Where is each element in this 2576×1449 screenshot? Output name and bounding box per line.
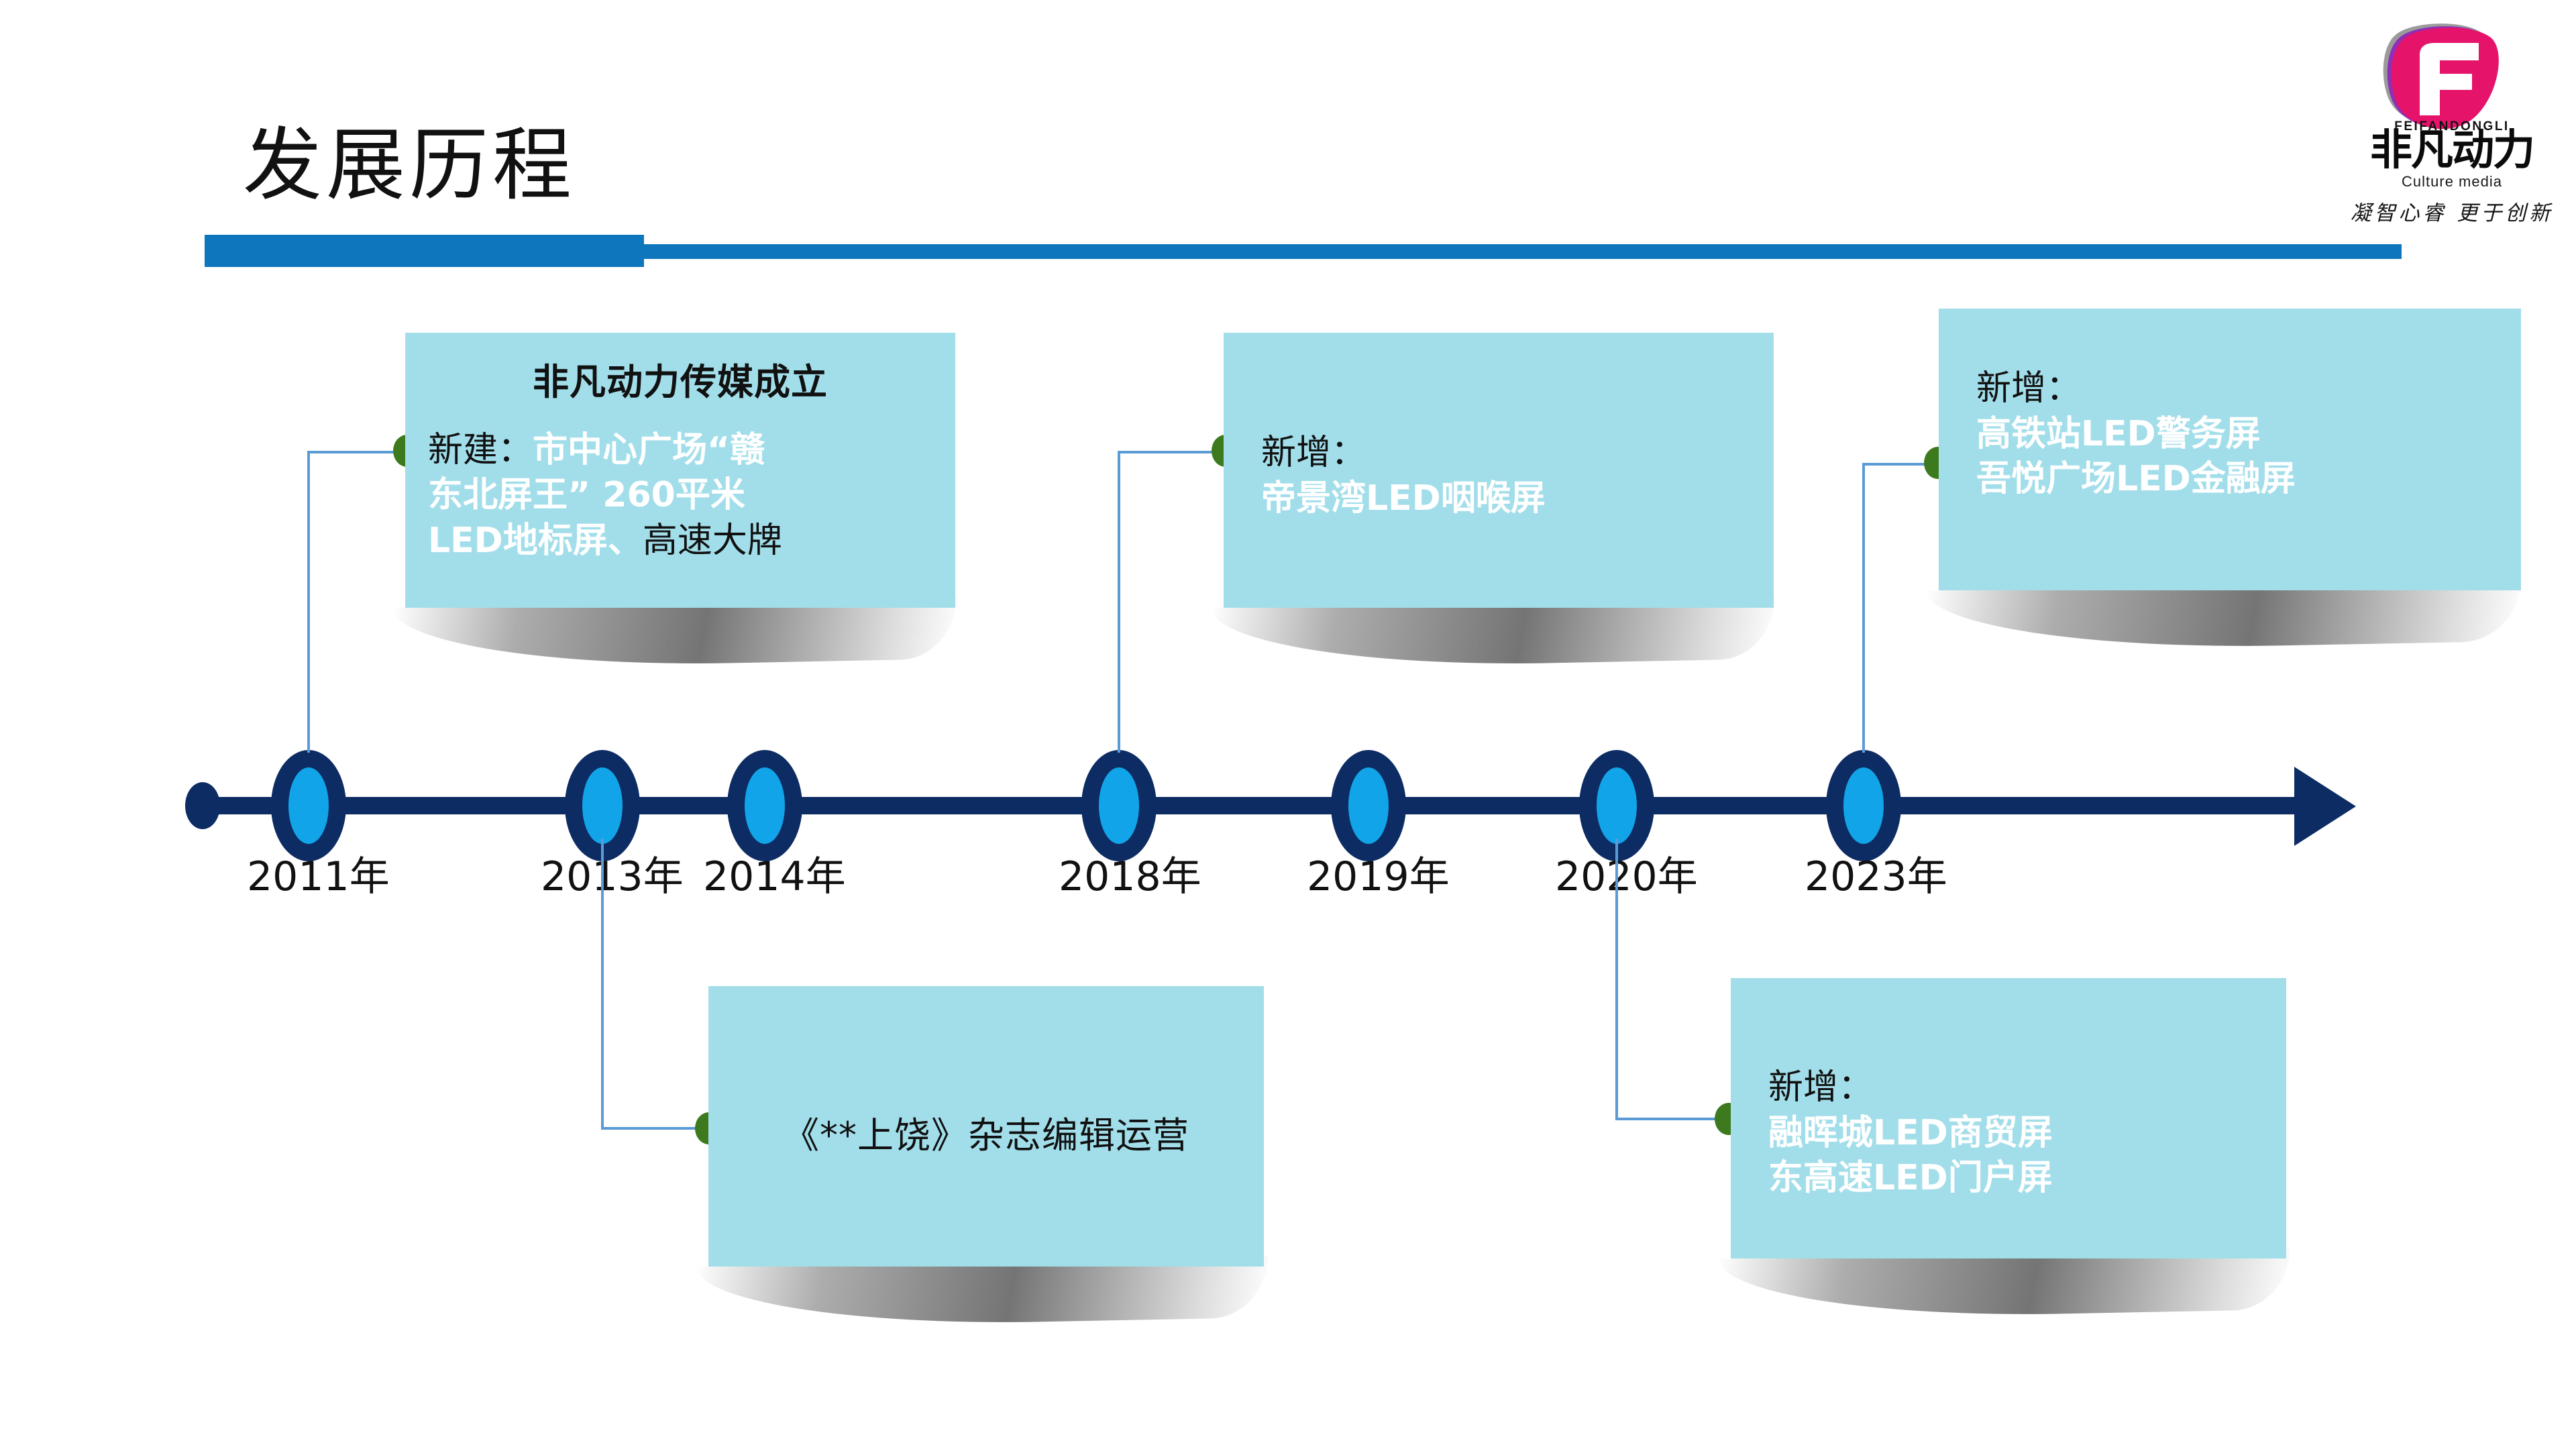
card-2020-line1: 融晖城LED商贸屏 [1768, 1113, 2053, 1153]
year-label-2013: 2013年 [541, 844, 684, 902]
logo-name-cn: 非凡动力 [2341, 129, 2563, 171]
connector-2011-vertical [307, 451, 310, 753]
logo-name-en: Culture media [2341, 173, 2563, 191]
card-2023-label: 新增： [1976, 368, 2081, 409]
connector-2020-vertical [1615, 839, 1618, 1119]
year-label-2011: 2011年 [247, 844, 390, 902]
card-shadow-2018 [1212, 597, 1775, 669]
card-2014-text: 《**上饶》杂志编辑运营 [722, 1106, 1250, 1159]
card-shadow-2011 [393, 597, 957, 669]
year-label-2023: 2023年 [1805, 844, 1947, 902]
card-2023[interactable]: 新增： 高铁站LED警务屏 吾悦广场LED金融屏 [1939, 309, 2521, 590]
year-label-2018: 2018年 [1059, 844, 1201, 902]
card-2023-line1: 高铁站LED警务屏 [1976, 414, 2261, 454]
card-2020-label: 新增： [1768, 1067, 1873, 1108]
connector-2018-vertical [1118, 451, 1120, 753]
page-title: 发展历程 [243, 101, 576, 215]
card-2020[interactable]: 新增： 融晖城LED商贸屏 东高速LED门户屏 [1731, 978, 2286, 1258]
card-2011-line1: 市中心广场“赣 [533, 430, 765, 470]
year-label-2014: 2014年 [703, 844, 846, 902]
card-2020-line2: 东高速LED门户屏 [1768, 1158, 2053, 1198]
card-shadow-2014 [696, 1256, 1268, 1328]
year-label-2020: 2020年 [1555, 844, 1698, 902]
timeline-arrow-icon [2294, 767, 2356, 846]
connector-2013-vertical [601, 839, 604, 1128]
card-2018-line1: 帝景湾LED咽喉屏 [1261, 478, 1546, 519]
card-2023-line2: 吾悦广场LED金融屏 [1976, 459, 2296, 499]
connector-2023-vertical [1862, 463, 1865, 753]
card-2018-label: 新增： [1261, 433, 1366, 473]
year-label-2019: 2019年 [1307, 844, 1450, 902]
connector-2020-horizontal [1615, 1118, 1729, 1120]
card-2018[interactable]: 新增： 帝景湾LED咽喉屏 [1224, 333, 1774, 608]
logo-f-mark [2378, 20, 2512, 131]
card-2014[interactable]: 《**上饶》杂志编辑运营 [708, 986, 1264, 1267]
title-underline-block [205, 235, 644, 267]
card-2011-line2: 东北屏王” 260平米 [428, 475, 745, 515]
logo-slogan: 凝智心睿 更于创新 [2341, 196, 2563, 226]
card-2011-label: 新建： [428, 430, 533, 470]
company-logo: FEIFANDONGLI 非凡动力 Culture media 凝智心睿 更于创… [2341, 20, 2563, 228]
timeline-axis [201, 797, 2318, 814]
title-underline-rule [641, 244, 2402, 259]
card-2011[interactable]: 非凡动力传媒成立 新建：市中心广场“赣 东北屏王” 260平米 LED地标屏、高… [405, 333, 955, 608]
card-2011-line3: LED地标屏、 [428, 521, 643, 561]
card-shadow-2020 [1719, 1248, 2290, 1320]
card-2011-line3-tail: 高速大牌 [643, 521, 782, 561]
card-2011-heading: 非凡动力传媒成立 [428, 360, 932, 405]
